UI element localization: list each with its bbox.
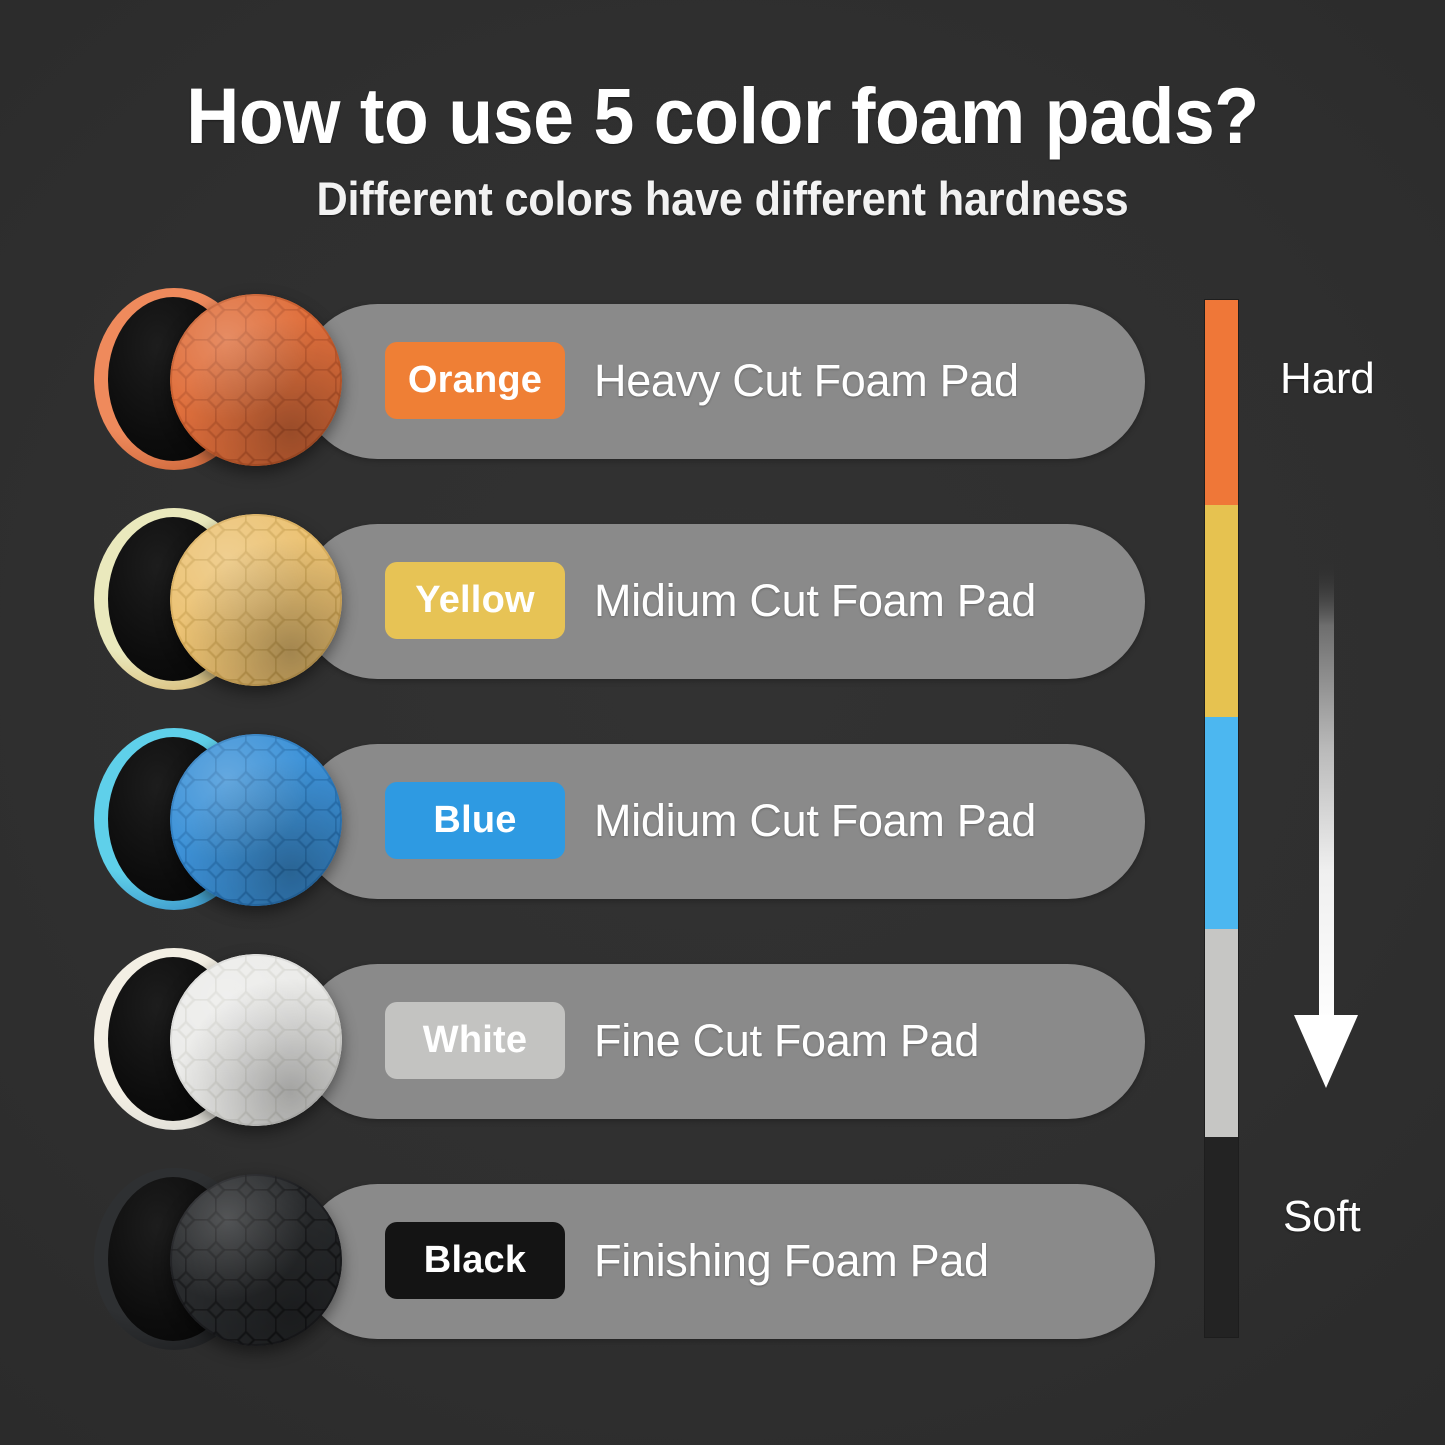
hardness-color-scale [1205, 300, 1238, 1337]
page-title: How to use 5 color foam pads? [51, 76, 1395, 155]
pad-row-blue: Blue Midium Cut Foam Pad [0, 722, 1190, 922]
foam-pad-shading [170, 734, 342, 906]
foam-pad-illustration [86, 942, 356, 1142]
color-chip-label: Yellow [415, 579, 534, 622]
scale-segment-white [1205, 929, 1238, 1137]
pad-description-text: Midium Cut Foam Pad [594, 795, 1036, 847]
infographic-canvas: How to use 5 color foam pads? Different … [0, 0, 1445, 1445]
foam-pad-face [170, 294, 342, 466]
pad-description: Fine Cut Foam Pad [594, 1002, 979, 1079]
foam-pad-shading [170, 294, 342, 466]
pad-description: Heavy Cut Foam Pad [594, 342, 1019, 419]
foam-pad-illustration [86, 1162, 356, 1362]
pad-description-text: Fine Cut Foam Pad [594, 1015, 979, 1067]
foam-pad-illustration [86, 722, 356, 922]
scale-segment-yellow [1205, 505, 1238, 717]
foam-pad-illustration [86, 502, 356, 702]
pad-description: Midium Cut Foam Pad [594, 782, 1036, 859]
foam-pad-shading [170, 954, 342, 1126]
pad-row-yellow: Yellow Midium Cut Foam Pad [0, 502, 1190, 702]
hardness-label-hard: Hard [1280, 354, 1375, 404]
pad-row-orange: Orange Heavy Cut Foam Pad [0, 282, 1190, 482]
color-chip-label: Black [424, 1239, 526, 1282]
color-chip-blue[interactable]: Blue [385, 782, 565, 859]
color-chip-orange[interactable]: Orange [385, 342, 565, 419]
hardness-label-soft: Soft [1283, 1192, 1360, 1242]
color-chip-white[interactable]: White [385, 1002, 565, 1079]
scale-segment-black [1205, 1137, 1238, 1337]
pad-row-black: Black Finishing Foam Pad [0, 1162, 1190, 1362]
foam-pad-face [170, 514, 342, 686]
pad-row-white: White Fine Cut Foam Pad [0, 942, 1190, 1142]
foam-pad-face [170, 1174, 342, 1346]
foam-pad-illustration [86, 282, 356, 482]
scale-segment-orange [1205, 300, 1238, 505]
foam-pad-face [170, 734, 342, 906]
color-chip-label: Blue [433, 799, 516, 842]
pad-description: Finishing Foam Pad [594, 1222, 989, 1299]
color-chip-yellow[interactable]: Yellow [385, 562, 565, 639]
arrow-down-gradient-icon [1288, 560, 1364, 1095]
color-chip-label: White [423, 1019, 527, 1062]
foam-pad-face [170, 954, 342, 1126]
pad-description: Midium Cut Foam Pad [594, 562, 1036, 639]
pad-description-text: Heavy Cut Foam Pad [594, 355, 1019, 407]
pad-description-text: Midium Cut Foam Pad [594, 575, 1036, 627]
page-subtitle: Different colors have different hardness [58, 175, 1387, 222]
color-chip-black[interactable]: Black [385, 1222, 565, 1299]
color-chip-label: Orange [408, 359, 542, 402]
scale-segment-blue [1205, 717, 1238, 929]
foam-pad-shading [170, 1174, 342, 1346]
pad-description-text: Finishing Foam Pad [594, 1235, 989, 1287]
foam-pad-shading [170, 514, 342, 686]
